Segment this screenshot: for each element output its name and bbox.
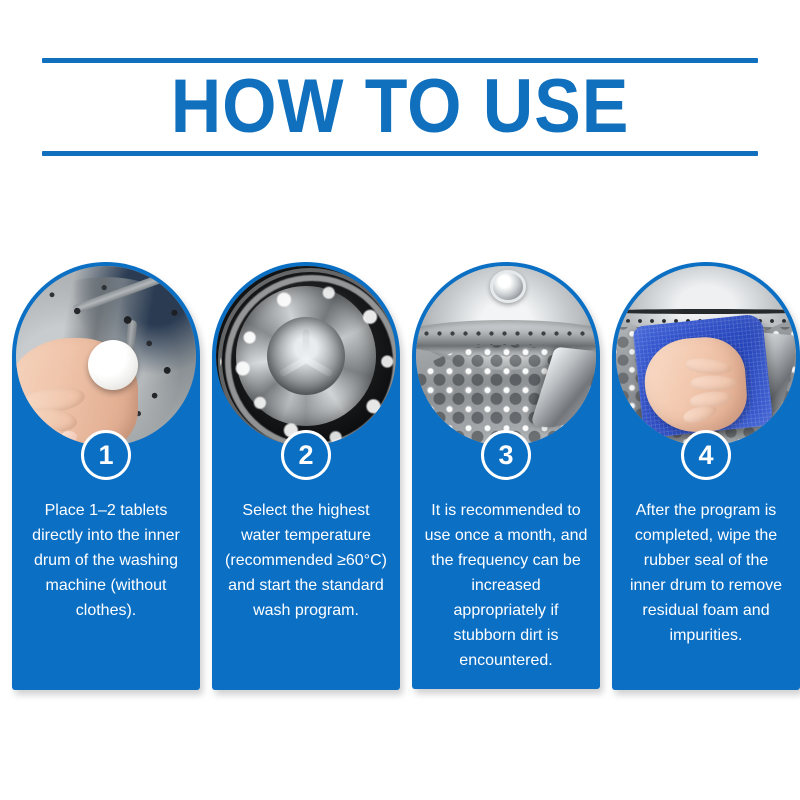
step-number-badge-2: 2 (281, 430, 331, 480)
step-number-badge-4: 4 (681, 430, 731, 480)
step-number-badge-1: 1 (81, 430, 131, 480)
step-card-4: 4 After the program is completed, wipe t… (612, 262, 800, 690)
step-3-photo-wrap: 3 (412, 262, 600, 450)
hand-holding-cleaning-tablet-image (16, 266, 196, 446)
page-title: HOW TO USE (71, 64, 730, 150)
step-description-3: It is recommended to use once a month, a… (412, 498, 600, 679)
step-description-2: Select the highest water temperature (re… (212, 498, 400, 629)
hand-wiping-drum-with-cloth-image (616, 266, 796, 446)
step-description-1: Place 1–2 tablets directly into the inne… (12, 498, 200, 629)
stainless-drum-interior-image (416, 266, 596, 446)
step-2-photo-wrap: 2 (212, 262, 400, 450)
step-card-2: 2 Select the highest water temperature (… (212, 262, 400, 690)
drum-center-bolt-icon (490, 270, 527, 303)
step-1-photo-wrap: 1 (12, 262, 200, 450)
step-card-3: 3 It is recommended to use once a month,… (412, 262, 600, 689)
step-number-badge-3: 3 (481, 430, 531, 480)
step-description-4: After the program is completed, wipe the… (612, 498, 800, 654)
steps-row: 1 Place 1–2 tablets directly into the in… (12, 262, 788, 690)
step-4-photo-wrap: 4 (612, 262, 800, 450)
drum-water-splash-image (216, 266, 396, 446)
step-card-1: 1 Place 1–2 tablets directly into the in… (12, 262, 200, 690)
title-rule-bottom (42, 151, 758, 156)
header: HOW TO USE (42, 58, 758, 158)
title-rule-top (42, 58, 758, 63)
